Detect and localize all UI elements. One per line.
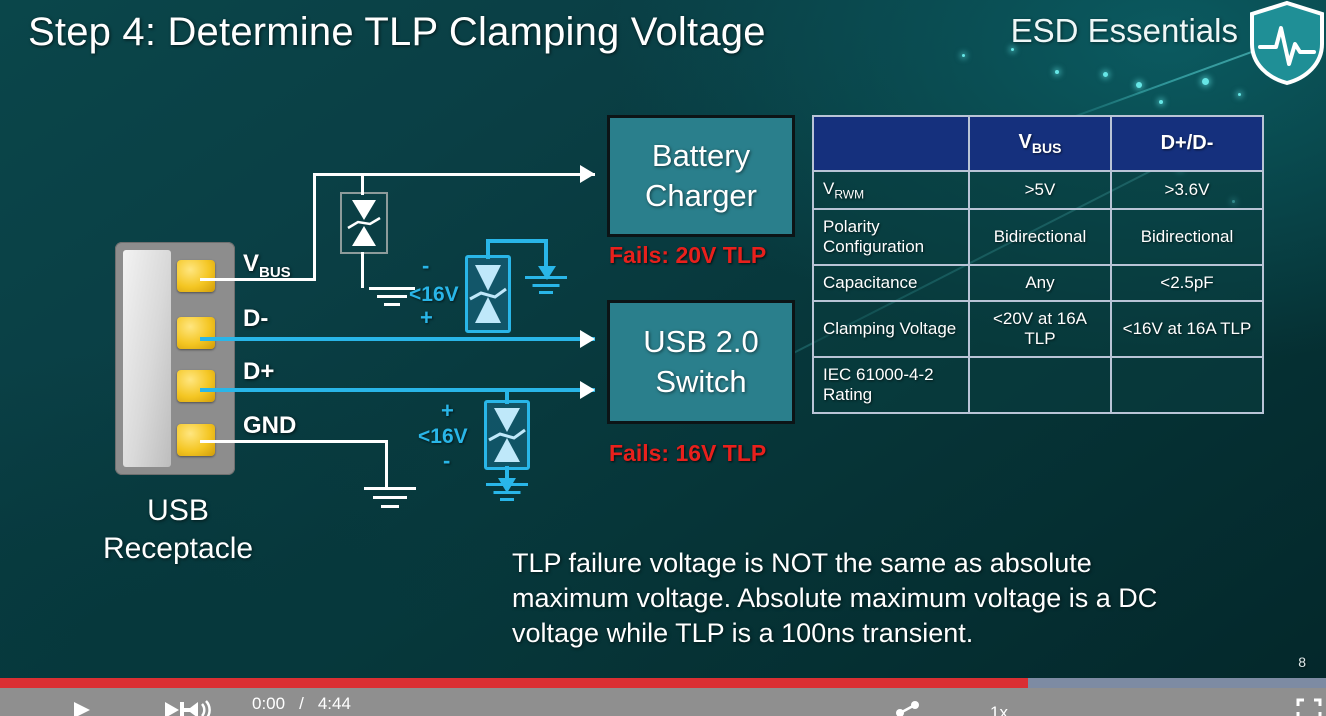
table-header-blank (813, 116, 969, 171)
tvs1-lead-top (361, 173, 364, 195)
slide-canvas: Step 4: Determine TLP Clamping Voltage E… (0, 0, 1326, 678)
table-cell-vrwm-dpdm: >3.6V (1111, 171, 1263, 209)
note-text: TLP failure voltage is NOT the same as a… (512, 546, 1212, 651)
time-separator: / (299, 694, 304, 714)
ground-symbol-3 (477, 483, 537, 505)
wire-dminus-arrow (580, 330, 595, 348)
page-title: Step 4: Determine TLP Clamping Voltage (28, 10, 766, 55)
table-cell-iec-vbus (969, 357, 1111, 413)
wire-dplus-arrow (580, 381, 595, 399)
ground-symbol-4 (358, 487, 422, 513)
table-cell-vrwm-vbus: >5V (969, 171, 1111, 209)
tvs-diode-recommended-top (465, 255, 511, 333)
pin-label-dminus: D- (243, 305, 268, 333)
usb-pin-vbus (177, 260, 215, 292)
clamp-label-top: <16V (409, 283, 459, 307)
table-cell-capacitance-dpdm: <2.5pF (1111, 265, 1263, 301)
tvs-diode-recommended-bottom (484, 400, 530, 470)
wire-gnd-seg2 (385, 440, 388, 488)
polarity-sign-bottom-plus: + (441, 398, 454, 424)
block-battery-charger-line2: Charger (645, 176, 757, 216)
table-header-row: VBUS D+/D- (813, 116, 1263, 171)
tvs-diode-existing (340, 192, 388, 254)
wire-gnd-seg1 (200, 440, 388, 443)
slide-number: 8 (1298, 654, 1306, 670)
table-cell-polarity-dpdm: Bidirectional (1111, 209, 1263, 265)
clamp-label-bottom: <16V (418, 425, 468, 449)
progress-bar-fill (0, 678, 1028, 688)
usb-receptacle-shell (123, 250, 171, 467)
tvs1-lead-bottom (361, 252, 364, 288)
pin-label-gnd: GND (243, 412, 296, 440)
polarity-sign-bottom-minus: - (443, 448, 450, 474)
fail-label-usb-switch: Fails: 16V TLP (609, 440, 766, 467)
fullscreen-icon (1296, 688, 1322, 716)
table-cell-polarity-vbus: Bidirectional (969, 209, 1111, 265)
polarity-sign-top-minus: - (422, 253, 429, 279)
table-header-dpdm: D+/D- (1111, 116, 1263, 171)
sparkle-dot (1202, 78, 1209, 85)
svg-text:1x: 1x (990, 703, 1008, 716)
wire-vbus-arrow (580, 165, 595, 183)
play-icon (70, 688, 94, 716)
table-row: Capacitance Any <2.5pF (813, 265, 1263, 301)
wire-vbus-seg1 (200, 278, 316, 281)
block-usb-switch-line1: USB 2.0 (643, 322, 758, 362)
wire-dplus (200, 388, 595, 392)
tvs2-loop-top (486, 239, 548, 243)
sparkle-dot (1055, 70, 1059, 74)
share-button[interactable] (892, 688, 922, 716)
tvs3-lead-top (505, 388, 509, 404)
table-cell-iec-dpdm (1111, 357, 1263, 413)
table-header-vbus: VBUS (969, 116, 1111, 171)
settings-button[interactable]: 1x (988, 688, 1022, 716)
sparkle-dot (962, 54, 965, 57)
wire-vbus-seg2 (313, 173, 316, 281)
fail-label-battery-charger: Fails: 20V TLP (609, 242, 766, 269)
table-rowhead-capacitance: Capacitance (813, 265, 969, 301)
polarity-sign-top-plus: + (420, 305, 433, 331)
video-player-stage: Step 4: Determine TLP Clamping Voltage E… (0, 0, 1326, 716)
pin-label-dplus: D+ (243, 358, 274, 386)
block-battery-charger: Battery Charger (607, 115, 795, 237)
spec-table: VBUS D+/D- VRWM >5V >3.6V Polarity Confi… (812, 115, 1264, 414)
wire-vbus-seg3 (313, 173, 595, 176)
player-controls-bar: 1x (0, 688, 1326, 716)
current-time: 0:00 (252, 694, 285, 714)
total-time: 4:44 (318, 694, 351, 714)
pin-label-vbus: VBUS (243, 250, 291, 281)
block-usb-switch-line2: Switch (643, 362, 758, 402)
table-row: Clamping Voltage <20V at 16A TLP <16V at… (813, 301, 1263, 357)
usb-pin-dplus (177, 370, 215, 402)
sparkle-dot (1136, 82, 1142, 88)
brand-label: ESD Essentials (1011, 12, 1238, 50)
table-rowhead-iec: IEC 61000-4-2 Rating (813, 357, 969, 413)
progress-bar-track[interactable] (0, 678, 1326, 688)
table-rowhead-vrwm: VRWM (813, 171, 969, 209)
wire-dminus (200, 337, 595, 341)
table-row: VRWM >5V >3.6V (813, 171, 1263, 209)
shield-pulse-icon (1248, 0, 1326, 86)
ground-symbol-2 (516, 276, 576, 298)
sparkle-dot (1238, 93, 1241, 96)
sparkle-dot (1159, 100, 1163, 104)
settings-icon: 1x (988, 688, 1022, 716)
block-battery-charger-line1: Battery (645, 136, 757, 176)
table-row: IEC 61000-4-2 Rating (813, 357, 1263, 413)
fullscreen-button[interactable] (1296, 688, 1322, 716)
table-row: Polarity Configuration Bidirectional Bid… (813, 209, 1263, 265)
usb-caption-line2: Receptacle (78, 530, 278, 568)
usb-caption-line1: USB (78, 492, 278, 530)
share-icon (892, 688, 922, 716)
sparkle-dot (1103, 72, 1108, 77)
table-rowhead-clamping: Clamping Voltage (813, 301, 969, 357)
table-cell-capacitance-vbus: Any (969, 265, 1111, 301)
table-cell-clamping-dpdm: <16V at 16A TLP (1111, 301, 1263, 357)
usb-pin-dminus (177, 317, 215, 349)
play-button[interactable] (70, 688, 94, 716)
block-usb-switch: USB 2.0 Switch (607, 300, 795, 424)
table-rowhead-polarity: Polarity Configuration (813, 209, 969, 265)
time-display: 0:00 / 4:44 (252, 694, 351, 714)
table-cell-clamping-vbus: <20V at 16A TLP (969, 301, 1111, 357)
